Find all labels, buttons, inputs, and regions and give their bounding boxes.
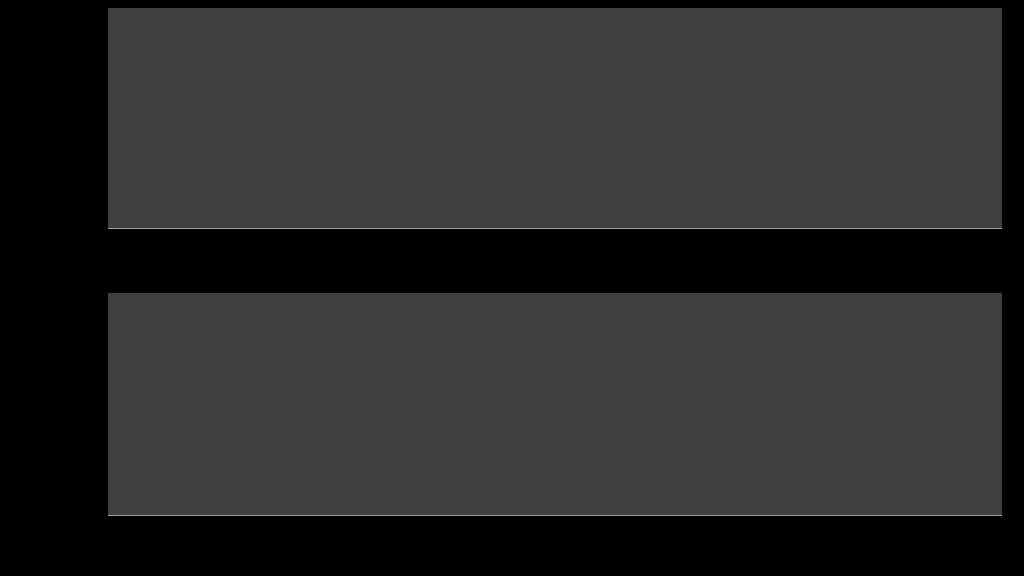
absentee-ballots-bar-chart <box>0 0 1024 288</box>
top-chart-plot-area <box>108 8 1002 228</box>
percentage-of-overall-vote-bar-chart <box>0 288 1024 576</box>
bottom-chart-x-axis-line <box>108 515 1002 516</box>
slide-canvas: { "title": { "line1": "Onondaga County P… <box>0 0 1024 576</box>
bottom-chart-plot-area <box>108 293 1002 515</box>
top-chart-x-axis-line <box>108 228 1002 229</box>
